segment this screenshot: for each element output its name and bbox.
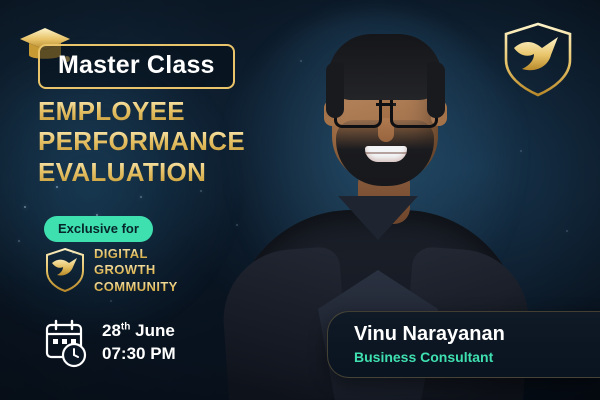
- event-day-suffix: th: [121, 321, 130, 332]
- calendar-icon: [44, 318, 90, 368]
- speaker-role: Business Consultant: [354, 349, 584, 366]
- headline-line-2: PERFORMANCE: [38, 126, 308, 156]
- event-month: June: [135, 321, 175, 340]
- community-line-3: COMMUNITY: [94, 279, 178, 295]
- headline-line-1: EMPLOYEE: [38, 96, 308, 126]
- eagle-crest-icon: [502, 22, 574, 98]
- community-line-1: DIGITAL: [94, 246, 178, 262]
- exclusive-badge: Exclusive for: [44, 216, 153, 242]
- community-line-2: GROWTH: [94, 262, 178, 278]
- event-date: 28th June: [102, 320, 176, 343]
- speaker-name: Vinu Narayanan: [354, 322, 584, 346]
- schedule-block: 28th June 07:30 PM: [44, 318, 176, 368]
- master-class-label: Master Class: [58, 53, 215, 78]
- event-day: 28: [102, 321, 121, 340]
- poster-canvas: Master Class EMPLOYEE PERFORMANCE EVALUA…: [0, 0, 600, 400]
- clock-icon: [63, 344, 85, 366]
- exclusive-label: Exclusive for: [58, 221, 139, 236]
- headline-block: EMPLOYEE PERFORMANCE EVALUATION: [38, 96, 308, 187]
- community-text: DIGITAL GROWTH COMMUNITY: [94, 246, 178, 295]
- event-time: 07:30 PM: [102, 343, 176, 366]
- eagle-shield-logo-icon: [44, 247, 86, 293]
- headline-line-3: EVALUATION: [38, 157, 308, 187]
- master-class-badge: Master Class: [38, 44, 235, 89]
- community-block: DIGITAL GROWTH COMMUNITY: [44, 246, 178, 295]
- schedule-text: 28th June 07:30 PM: [102, 320, 176, 366]
- speaker-nameplate: Vinu Narayanan Business Consultant: [327, 311, 600, 378]
